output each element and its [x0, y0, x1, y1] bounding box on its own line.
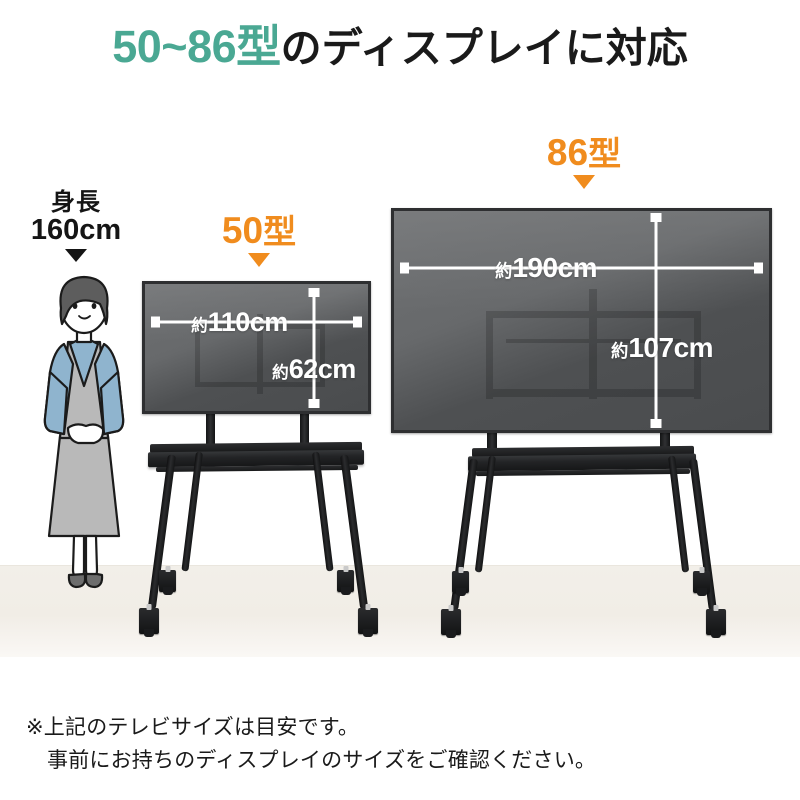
caster-rear-right [693, 571, 710, 593]
tv-large-width-label: 約190cm [495, 254, 597, 282]
infographic-canvas: 50~86型のディスプレイに対応 身長 160cm [0, 0, 800, 800]
tv-stand-large-group: 約190cm 約107cm [0, 0, 800, 800]
footnote-line-1: ※上記のテレビサイズは目安です。 [26, 716, 359, 739]
tv-large-height-dimension [650, 213, 662, 428]
tv-large-screen [391, 208, 772, 433]
caster-front-left [441, 609, 461, 635]
shelf-front-lip [476, 469, 690, 476]
footnote: ※上記のテレビサイズは目安です。 事前にお持ちのディスプレイのサイズをご確認くだ… [26, 712, 766, 777]
footnote-line-2: 事前にお持ちのディスプレイのサイズをご確認ください。 [26, 745, 766, 778]
caster-front-right [706, 609, 726, 635]
tv-large-height-label: 約107cm [611, 334, 713, 362]
caster-rear-left [452, 571, 469, 593]
